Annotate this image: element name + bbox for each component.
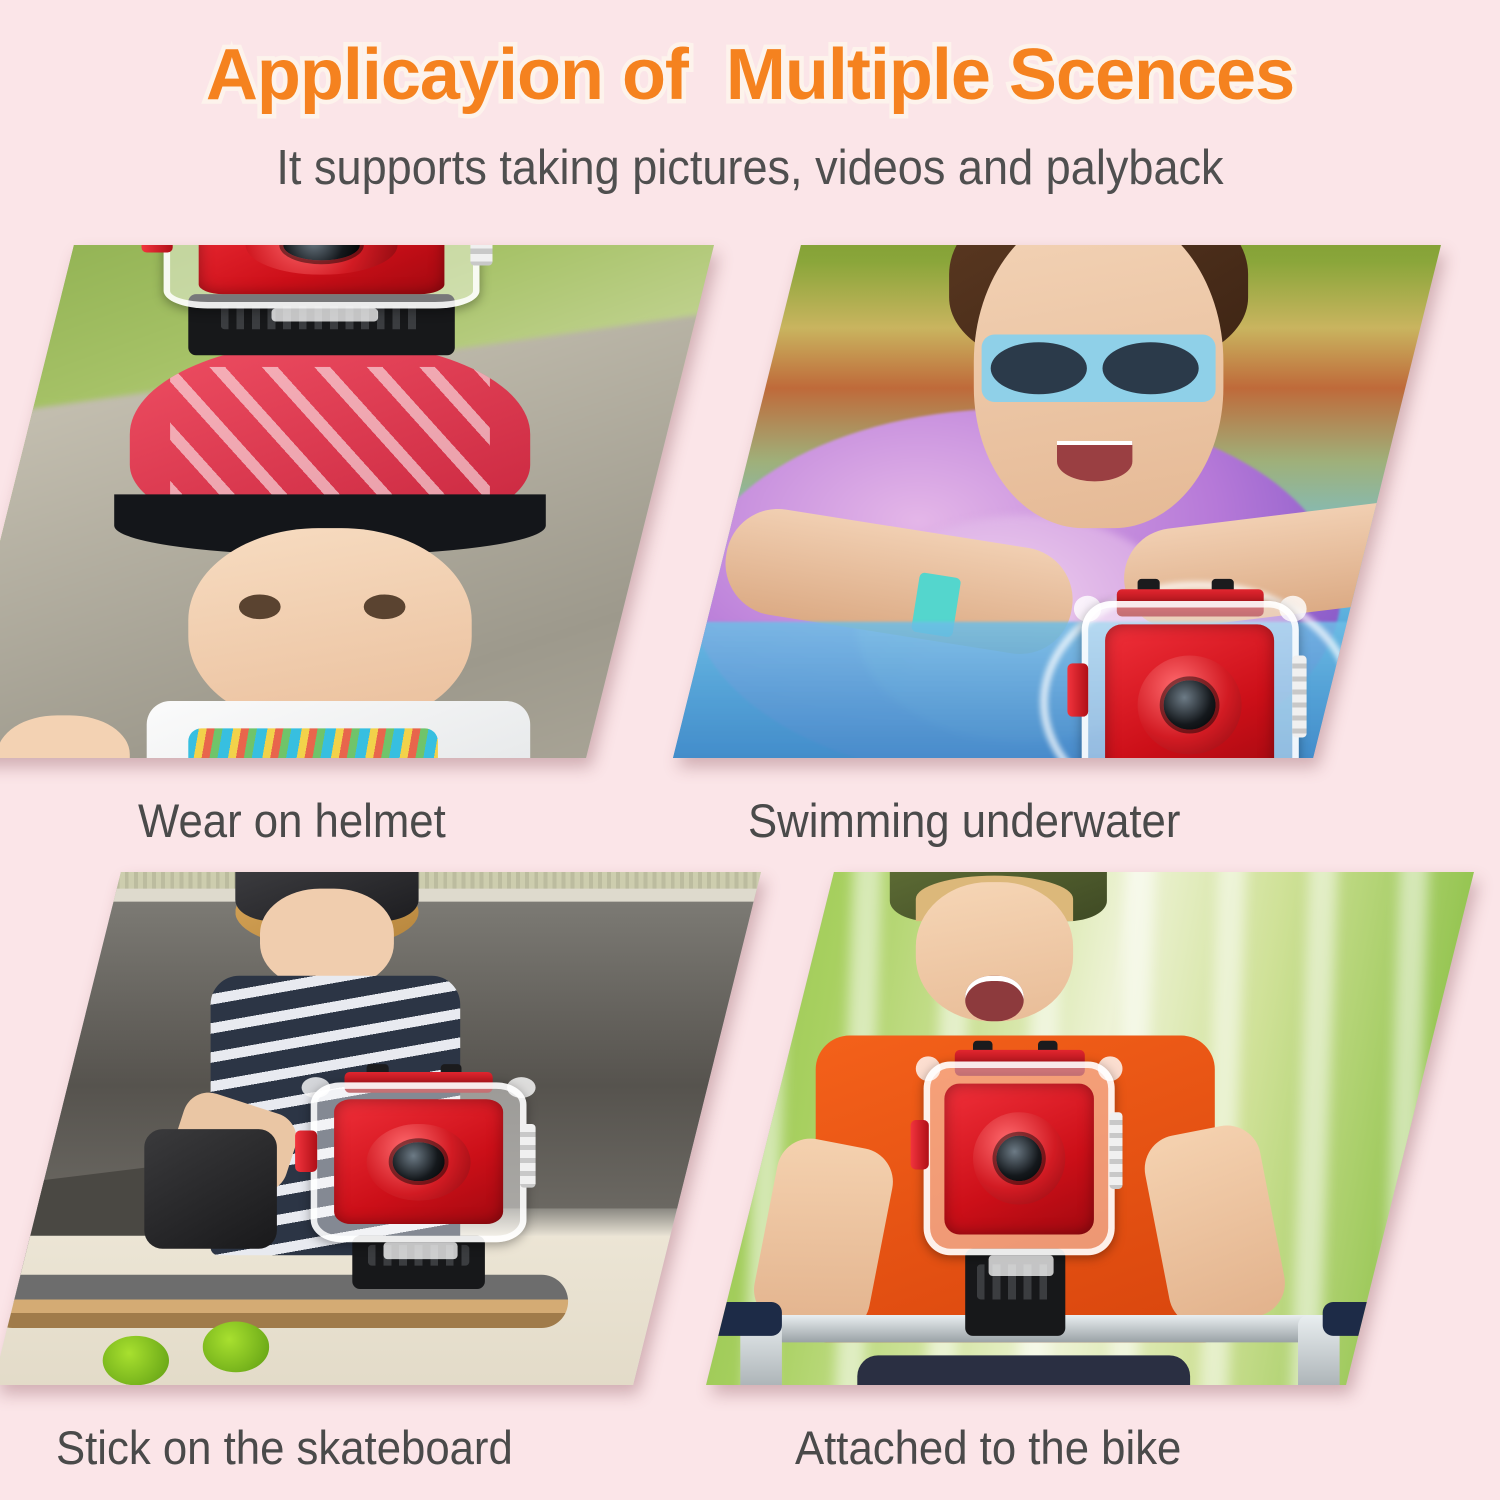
sunglasses-lens-right bbox=[1099, 338, 1203, 398]
photo-inner bbox=[0, 245, 714, 758]
case-foot bbox=[384, 1242, 458, 1260]
scene-swimming-underwater bbox=[673, 245, 1441, 758]
child-eye-left bbox=[238, 595, 280, 619]
case-hinge bbox=[470, 245, 492, 265]
girl-smile bbox=[1057, 441, 1132, 481]
photo-panel-stick-on-the-skateboard[interactable] bbox=[0, 872, 761, 1385]
scene-stick-on-the-skateboard bbox=[0, 872, 761, 1385]
scene-attached-to-the-bike bbox=[706, 872, 1474, 1385]
camera-lens bbox=[393, 1143, 445, 1181]
page-title: Applicayion of Multiple Scences bbox=[0, 34, 1500, 116]
boy-open-mouth bbox=[965, 975, 1023, 1022]
case-hinge bbox=[1292, 655, 1307, 738]
shutter-button bbox=[1067, 664, 1089, 718]
skateboard-wheel-front bbox=[102, 1335, 169, 1385]
action-camera bbox=[164, 245, 480, 308]
photo-inner bbox=[0, 872, 761, 1385]
caption-attached-to-the-bike: Attached to the bike bbox=[795, 1420, 1181, 1475]
photo-panel-attached-to-the-bike[interactable] bbox=[706, 872, 1474, 1385]
scene-wear-on-helmet bbox=[0, 245, 714, 758]
sunglasses-lens-left bbox=[986, 338, 1090, 398]
skateboard-wheel-rear bbox=[202, 1322, 269, 1372]
case-foot bbox=[271, 308, 378, 322]
case-hinge bbox=[520, 1123, 535, 1187]
child-eye-right bbox=[363, 595, 405, 619]
shutter-button bbox=[141, 245, 173, 252]
caption-wear-on-helmet: Wear on helmet bbox=[138, 793, 446, 848]
caption-stick-on-the-skateboard: Stick on the skateboard bbox=[56, 1420, 513, 1475]
shutter-button bbox=[910, 1120, 929, 1170]
case-foot bbox=[989, 1255, 1054, 1276]
caption-swimming-underwater: Swimming underwater bbox=[748, 793, 1180, 848]
photo-panel-wear-on-helmet[interactable] bbox=[0, 245, 714, 758]
child-face bbox=[189, 528, 472, 728]
boy-face bbox=[261, 888, 394, 988]
action-camera bbox=[924, 1062, 1115, 1255]
shutter-button bbox=[295, 1130, 317, 1172]
photo-inner bbox=[706, 872, 1474, 1385]
handlebar-grip-right bbox=[1323, 1302, 1398, 1335]
camera-lens bbox=[1164, 680, 1216, 730]
photo-inner bbox=[673, 245, 1441, 758]
striped-bib bbox=[189, 728, 439, 758]
page-subtitle: It supports taking pictures, videos and … bbox=[60, 140, 1440, 196]
handlebar-grip-left bbox=[707, 1302, 782, 1335]
photo-panel-swimming-underwater[interactable] bbox=[673, 245, 1441, 758]
action-camera bbox=[1082, 602, 1298, 758]
elbow-pad bbox=[144, 1129, 277, 1249]
boy-shorts bbox=[857, 1355, 1190, 1385]
case-hinge bbox=[1109, 1112, 1122, 1189]
action-camera bbox=[310, 1082, 526, 1242]
